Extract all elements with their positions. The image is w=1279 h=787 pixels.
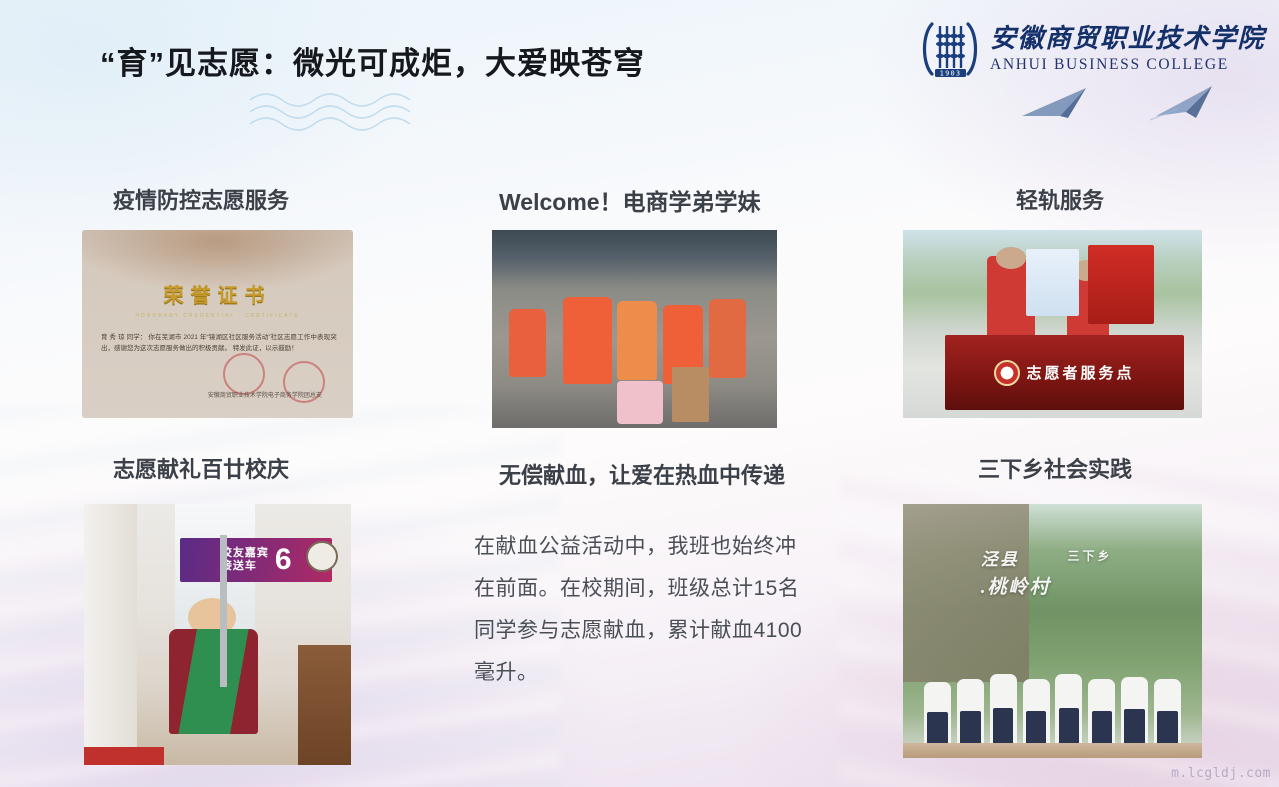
certificate-seal-icon [223,353,265,395]
sign-number: 6 [275,545,292,575]
service-point-banner: 志愿者服务点 [1026,362,1134,383]
rural-place-line-1: 泾县 [981,550,1019,569]
blood-donation-paragraph: 在献血公益活动中，我班也始终冲在前面。在校期间，班级总计15名同学参与志愿献血，… [474,526,814,694]
section-heading-welcome-juniors: Welcome！电商学弟学妹 [499,183,761,217]
sign-line-1: 校友嘉宾 [221,547,269,559]
paper-plane-icon [1020,86,1090,120]
photo-honorary-certificate: 荣誉证书 HONORARY CREDENTIAL · CERTIFICATE 育… [82,230,353,418]
section-heading-blood-donation: 无偿献血，让爱在热血中传递 [499,458,785,490]
wall-clock-icon [306,541,338,572]
section-heading-epidemic-volunteer: 疫情防控志愿服务 [113,183,289,215]
paper-plane-icon [1150,82,1226,122]
certificate-title: 荣誉证书 [82,279,353,308]
rural-place-caption: 泾县 .桃岭村 [981,545,1051,599]
volunteer-badge-icon [994,360,1020,386]
section-heading-light-rail-service: 轻轨服务 [1016,183,1104,215]
svg-text:1903: 1903 [940,70,962,78]
section-heading-anniversary-volunteer: 志愿献礼百廿校庆 [113,452,289,484]
photo-alumni-shuttle-guide: 校友嘉宾 接送车 6 [84,504,351,765]
certificate-footer-org: 安徽商贸职业技术学院电子商务学院团总支 [190,391,339,401]
photo-welcome-volunteers [492,230,777,428]
college-logo: 1903 安徽商贸职业技术学院 ANHUI BUSINESS COLLEGE [918,20,1265,78]
certificate-subtitle: HONORARY CREDENTIAL · CERTIFICATE [82,313,353,319]
page-title: “育”见志愿：微光可成炬，大爱映苍穹 [100,38,645,83]
photo-volunteer-service-point: 志愿者服务点 [903,230,1202,418]
photo-rural-practice-group: 泾县 .桃岭村 三下乡 [903,504,1202,758]
certificate-body: 育 秀 琼 同学： 你在芜湖市 2021 年“镜湖区社区服务活动”社区志愿工作中… [101,332,337,354]
slide-root: “育”见志愿：微光可成炬，大爱映苍穹 [0,0,1279,787]
section-heading-rural-practice: 三下乡社会实践 [978,452,1132,484]
rural-place-line-2: .桃岭村 [981,572,1051,599]
wave-lines-icon [248,88,438,132]
abacus-emblem-icon: 1903 [918,20,980,78]
rural-tag: 三下乡 [1067,547,1112,564]
logo-name-cn: 安徽商贸职业技术学院 [990,26,1265,52]
site-watermark: m.lcgldj.com [1171,766,1271,781]
logo-name-en: ANHUI BUSINESS COLLEGE [990,57,1265,73]
